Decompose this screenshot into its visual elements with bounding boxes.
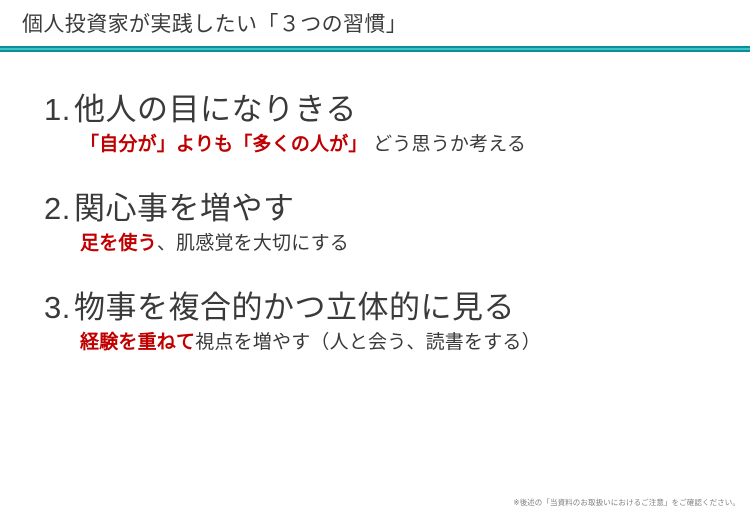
habit-subtext-emphasis-2: 足を使う [80, 233, 157, 254]
footnote-disclaimer: ※後述の「当資料のお取扱いにおけるご注意」をご確認ください。 [513, 497, 740, 508]
list-item: 1. 他人の目になりきる 「自分が」よりも「多くの人が」 どう思うか考える [0, 88, 750, 160]
habit-number-1: 1. [44, 88, 74, 132]
habit-subtext-rest-1: どう思うか考える [368, 134, 527, 155]
list-item: 3. 物事を複合的かつ立体的に見る 経験を重ねて視点を増やす（人と会う、読書をす… [0, 286, 750, 358]
habit-headline-2: 2. 関心事を増やす [0, 187, 750, 231]
slide-header: 個人投資家が実践したい「３つの習慣」 [0, 0, 750, 56]
habit-number-2: 2. [44, 187, 74, 231]
habit-subtext-emphasis-3: 経験を重ねて [80, 332, 195, 353]
habit-subtext-3: 経験を重ねて視点を増やす（人と会う、読書をする） [0, 328, 750, 358]
habit-list: 1. 他人の目になりきる 「自分が」よりも「多くの人が」 どう思うか考える 2.… [0, 88, 750, 358]
title-divider [0, 46, 750, 52]
habit-headline-1: 1. 他人の目になりきる [0, 88, 750, 132]
habit-subtext-rest-2: 、肌感覚を大切にする [157, 233, 349, 254]
page-title: 個人投資家が実践したい「３つの習慣」 [22, 11, 407, 39]
slide-canvas: 個人投資家が実践したい「３つの習慣」 1. 他人の目になりきる 「自分が」よりも… [0, 0, 750, 520]
title-divider-inner-line [0, 48, 750, 50]
habit-main-text-3: 物事を複合的かつ立体的に見る [74, 286, 515, 330]
list-item: 2. 関心事を増やす 足を使う、肌感覚を大切にする [0, 187, 750, 259]
habit-subtext-2: 足を使う、肌感覚を大切にする [0, 229, 750, 259]
habit-subtext-rest-3: 視点を増やす（人と会う、読書をする） [195, 332, 541, 353]
habit-subtext-emphasis-1: 「自分が」よりも「多くの人が」 [80, 134, 368, 155]
habit-main-text-1: 他人の目になりきる [74, 88, 357, 132]
habit-main-text-2: 関心事を増やす [74, 187, 295, 231]
habit-subtext-1: 「自分が」よりも「多くの人が」 どう思うか考える [0, 130, 750, 160]
habit-headline-3: 3. 物事を複合的かつ立体的に見る [0, 286, 750, 330]
habit-number-3: 3. [44, 286, 74, 330]
